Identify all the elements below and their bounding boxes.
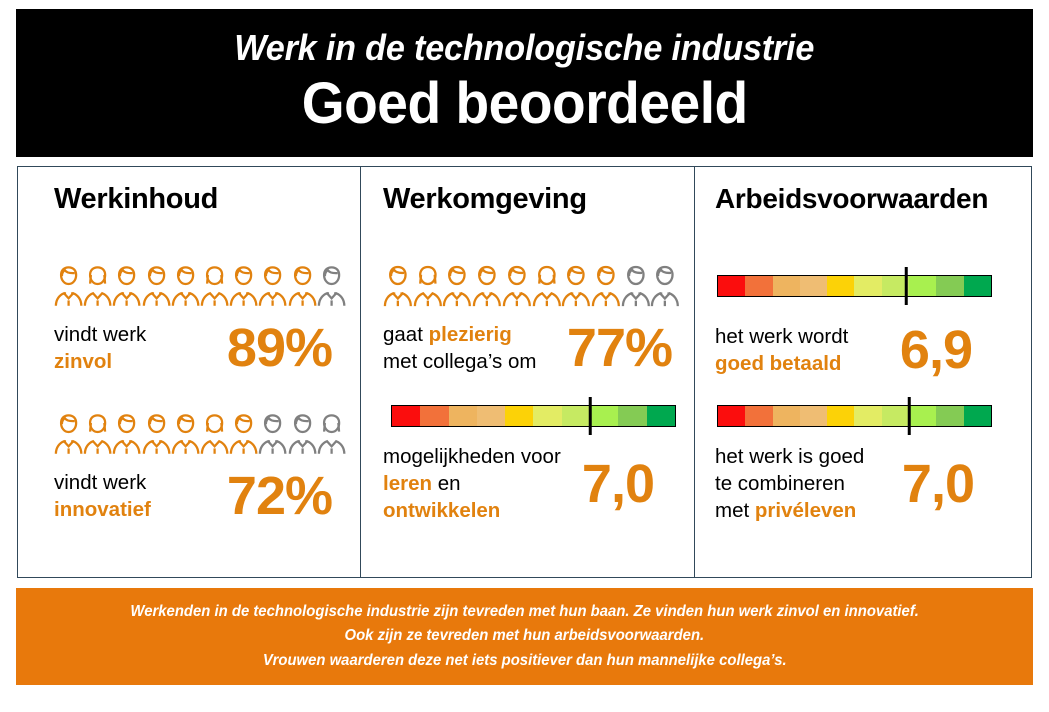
metric-label-line1: het werk is goed [715,445,864,468]
scale-bar-priveleven [717,405,992,427]
metric-value-innovatief: 72% [227,469,332,523]
person-icon [142,263,171,309]
person-icon [561,263,591,309]
header-banner: Werk in de technologische industrie Goed… [16,9,1033,157]
metric-row-leren: mogelijkheden voor leren en ontwikkelen … [383,443,680,524]
scale-marker-leren [589,397,592,435]
person-icon [54,263,83,309]
person-icon [591,263,621,309]
scale-segment [718,406,745,426]
metric-label-zinvol: vindt werk zinvol [54,321,146,375]
metric-value-zinvol: 89% [227,321,332,375]
scale-segment [854,406,881,426]
person-icon-inactive [258,411,287,457]
scale-segment [773,276,800,296]
metric-label-line1-plain: gaat [383,323,429,346]
scale-wrap-leren [383,393,680,439]
scale-wrap-priveleven [715,393,1018,439]
person-icon [472,263,502,309]
metric-label-line2-highlight: goed betaald [715,352,841,375]
metric-plezierig: gaat plezierig met collega’s om 77% [383,253,680,375]
metric-label-plezierig: gaat plezierig met collega’s om [383,321,536,375]
person-icon [442,263,472,309]
metric-label-line3-highlight: privéleven [755,499,856,522]
scale-marker-betaald [905,267,908,305]
person-icon [142,411,171,457]
metric-row-zinvol: vindt werk zinvol 89% [54,321,346,375]
footer-summary-banner: Werkenden in de technologische industrie… [16,588,1033,685]
person-icon [288,263,317,309]
person-icon [502,263,532,309]
metric-label-line1-highlight: plezierig [429,323,512,346]
person-icon-inactive [288,411,317,457]
metric-label-line3-highlight: ontwikkelen [383,499,500,522]
person-icon [200,263,229,309]
person-icon [258,263,287,309]
column-heading-arbeidsvoorwaarden: Arbeidsvoorwaarden [715,183,1018,215]
person-icon [112,411,141,457]
metric-priveleven: het werk is goed te combineren met privé… [715,393,1018,524]
scale-segment [618,406,646,426]
scale-segment [647,406,675,426]
person-icon [54,411,83,457]
metric-value-plezierig: 77% [567,321,672,375]
metric-label-highlight: innovatief [54,498,151,521]
person-icon-inactive [317,411,346,457]
metric-label-betaald: het werk wordt goed betaald [715,323,848,377]
scale-segment [964,276,991,296]
scale-segment [854,276,881,296]
scale-segment [936,406,963,426]
people-icon-row-zinvol [54,253,346,309]
metric-label-line2-plain: en [432,472,461,495]
metric-label-highlight: zinvol [54,350,112,373]
scale-segment [718,276,745,296]
column-arbeidsvoorwaarden: Arbeidsvoorwaarden [694,167,1030,577]
scale-segment [420,406,448,426]
people-icon-row-innovatief [54,401,346,457]
person-icon [83,411,112,457]
person-icon [383,263,413,309]
metric-innovatief: vindt werk innovatief 72% [54,401,346,523]
scale-segment [773,406,800,426]
scale-segment [800,276,827,296]
metric-label-leren: mogelijkheden voor leren en ontwikkelen [383,443,561,524]
metric-label-line1: mogelijkheden voor [383,445,561,468]
scale-segment [827,276,854,296]
column-werkinhoud: Werkinhoud vindt werk zinvol 89% [18,167,360,577]
column-werkomgeving: Werkomgeving gaat plezierig met collega’… [360,167,694,577]
scale-segment [964,406,991,426]
metric-label-line3-plain: met [715,499,755,522]
column-heading-werkinhoud: Werkinhoud [54,183,346,216]
person-icon [171,411,200,457]
scale-segment [882,406,909,426]
metric-value-leren: 7,0 [582,457,654,511]
scale-segment [936,276,963,296]
scale-segment [800,406,827,426]
scale-segment [449,406,477,426]
header-subtitle: Werk in de technologische industrie [235,29,815,67]
column-heading-werkomgeving: Werkomgeving [383,183,680,216]
footer-line-1: Werkenden in de technologische industrie… [130,600,919,624]
metric-row-betaald: het werk wordt goed betaald 6,9 [715,323,1018,377]
scale-segment [909,276,936,296]
scale-segment [590,406,618,426]
metric-row-priveleven: het werk is goed te combineren met privé… [715,443,1018,524]
metric-label-line1: het werk wordt [715,325,848,348]
scale-bar-leren [391,405,676,427]
scale-segment [477,406,505,426]
person-icon [171,263,200,309]
metrics-panel: Werkinhoud vindt werk zinvol 89% [17,166,1032,578]
metric-label-line2: te combineren [715,472,845,495]
person-icon [229,263,258,309]
person-icon-inactive [650,263,680,309]
page-title: Goed beoordeeld [302,72,748,137]
footer-line-3: Vrouwen waarderen deze net iets positiev… [263,649,787,673]
scale-segment [533,406,561,426]
people-icon-row-plezierig [383,253,680,309]
metric-label-innovatief: vindt werk innovatief [54,469,151,523]
person-icon [229,411,258,457]
metric-value-betaald: 6,9 [900,323,972,377]
person-icon [413,263,443,309]
person-icon-inactive [621,263,651,309]
scale-segment [909,406,936,426]
person-icon [112,263,141,309]
metric-label-priveleven: het werk is goed te combineren met privé… [715,443,864,524]
scale-marker-priveleven [908,397,911,435]
footer-line-2: Ook zijn ze tevreden met hun arbeidsvoor… [345,624,705,648]
scale-segment [827,406,854,426]
scale-segment [745,276,772,296]
scale-segment [745,406,772,426]
person-icon-inactive [317,263,346,309]
metric-leren-ontwikkelen: mogelijkheden voor leren en ontwikkelen … [383,393,680,524]
person-icon [83,263,112,309]
person-icon [200,411,229,457]
scale-segment [392,406,420,426]
scale-segment [505,406,533,426]
person-icon [532,263,562,309]
metric-label-line1: vindt werk [54,471,146,494]
scale-wrap-betaald [715,263,1018,309]
scale-segment [562,406,590,426]
metric-value-priveleven: 7,0 [902,457,974,511]
metric-goed-betaald: het werk wordt goed betaald 6,9 [715,263,1018,377]
metric-row-innovatief: vindt werk innovatief 72% [54,469,346,523]
metric-label-line1: vindt werk [54,323,146,346]
metric-label-line2: met collega’s om [383,350,536,373]
metric-zinvol: vindt werk zinvol 89% [54,253,346,375]
metric-row-plezierig: gaat plezierig met collega’s om 77% [383,321,680,375]
scale-bar-betaald [717,275,992,297]
metric-label-line2-highlight: leren [383,472,432,495]
